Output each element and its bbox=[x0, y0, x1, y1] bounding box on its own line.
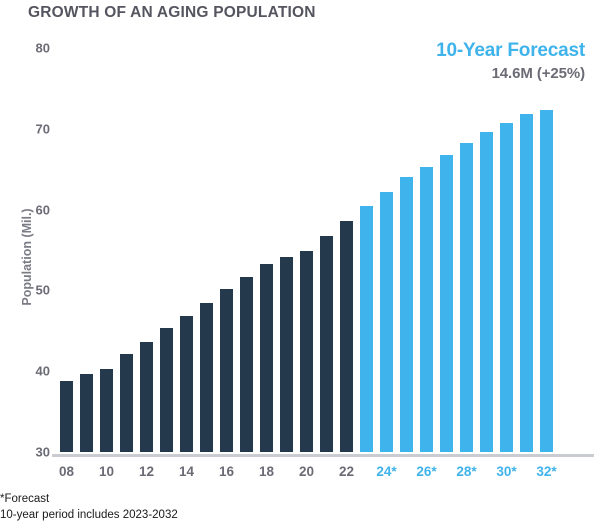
x-axis-baseline bbox=[52, 454, 594, 457]
y-axis-tick-80: 80 bbox=[24, 41, 50, 56]
bar-09[interactable] bbox=[80, 374, 93, 452]
page-title: GROWTH OF AN AGING POPULATION bbox=[28, 4, 316, 22]
bar-11[interactable] bbox=[120, 354, 133, 452]
y-axis-tick-40: 40 bbox=[24, 364, 50, 379]
bar-29-forecast[interactable] bbox=[480, 132, 493, 452]
y-axis-tick-30: 30 bbox=[24, 445, 50, 460]
bar-26-forecast[interactable] bbox=[420, 167, 433, 452]
x-axis-tick-16: 16 bbox=[207, 464, 247, 479]
bar-28-forecast[interactable] bbox=[460, 143, 473, 452]
bar-16[interactable] bbox=[220, 289, 233, 452]
y-axis-tick-60: 60 bbox=[24, 202, 50, 217]
bar-23-forecast[interactable] bbox=[360, 206, 373, 452]
x-axis-tick-22: 22 bbox=[327, 464, 367, 479]
bar-10[interactable] bbox=[100, 369, 113, 452]
bar-19[interactable] bbox=[280, 257, 293, 452]
bar-12[interactable] bbox=[140, 342, 153, 452]
bar-17[interactable] bbox=[240, 277, 253, 452]
bar-14[interactable] bbox=[180, 316, 193, 452]
footnote-line-2: 10-year period includes 2023-2032 bbox=[0, 508, 178, 524]
bar-31-forecast[interactable] bbox=[520, 114, 533, 452]
bar-20[interactable] bbox=[300, 251, 313, 452]
bar-27-forecast[interactable] bbox=[440, 155, 453, 452]
x-axis-tick-08: 08 bbox=[47, 464, 87, 479]
y-axis-tick-50: 50 bbox=[24, 283, 50, 298]
footnote-line-1: *Forecast bbox=[0, 492, 178, 508]
x-axis-tick-28-forecast: 28* bbox=[447, 464, 487, 479]
bar-32-forecast[interactable] bbox=[540, 110, 553, 452]
x-axis-tick-24-forecast: 24* bbox=[367, 464, 407, 479]
x-axis-tick-30-forecast: 30* bbox=[487, 464, 527, 479]
plot-area bbox=[58, 44, 592, 455]
footnote: *Forecast 10-year period includes 2023-2… bbox=[0, 492, 178, 523]
x-axis-tick-10: 10 bbox=[87, 464, 127, 479]
bar-13[interactable] bbox=[160, 328, 173, 452]
y-axis-tick-70: 70 bbox=[24, 121, 50, 136]
bar-24-forecast[interactable] bbox=[380, 192, 393, 452]
x-axis-tick-12: 12 bbox=[127, 464, 167, 479]
bar-22[interactable] bbox=[340, 221, 353, 452]
x-axis-tick-32-forecast: 32* bbox=[527, 464, 567, 479]
bar-15[interactable] bbox=[200, 303, 213, 452]
x-axis-tick-26-forecast: 26* bbox=[407, 464, 447, 479]
bar-25-forecast[interactable] bbox=[400, 177, 413, 452]
bar-08[interactable] bbox=[60, 381, 73, 452]
bar-30-forecast[interactable] bbox=[500, 123, 513, 452]
bar-18[interactable] bbox=[260, 264, 273, 452]
x-axis-tick-14: 14 bbox=[167, 464, 207, 479]
x-axis-tick-18: 18 bbox=[247, 464, 287, 479]
bar-21[interactable] bbox=[320, 236, 333, 452]
chart-container: GROWTH OF AN AGING POPULATION 10-Year Fo… bbox=[0, 0, 600, 531]
x-axis-tick-20: 20 bbox=[287, 464, 327, 479]
